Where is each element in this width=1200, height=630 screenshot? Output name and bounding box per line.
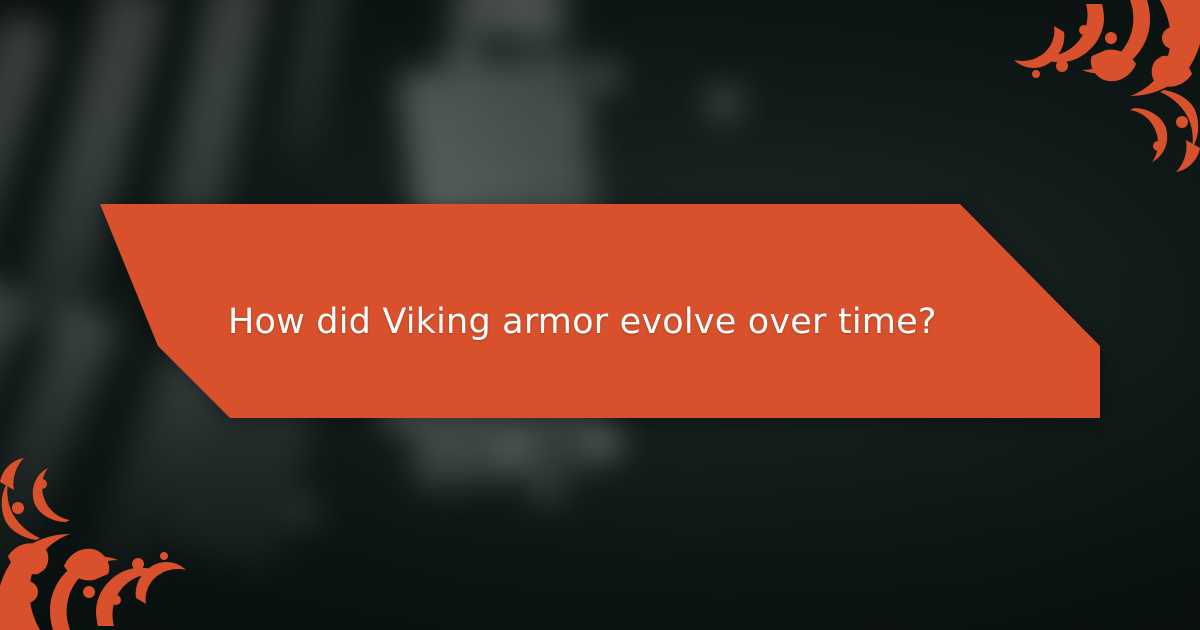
social-share-card: How did Viking armor evolve over time? <box>0 0 1200 630</box>
page-title: How did Viking armor evolve over time? <box>228 300 1058 344</box>
